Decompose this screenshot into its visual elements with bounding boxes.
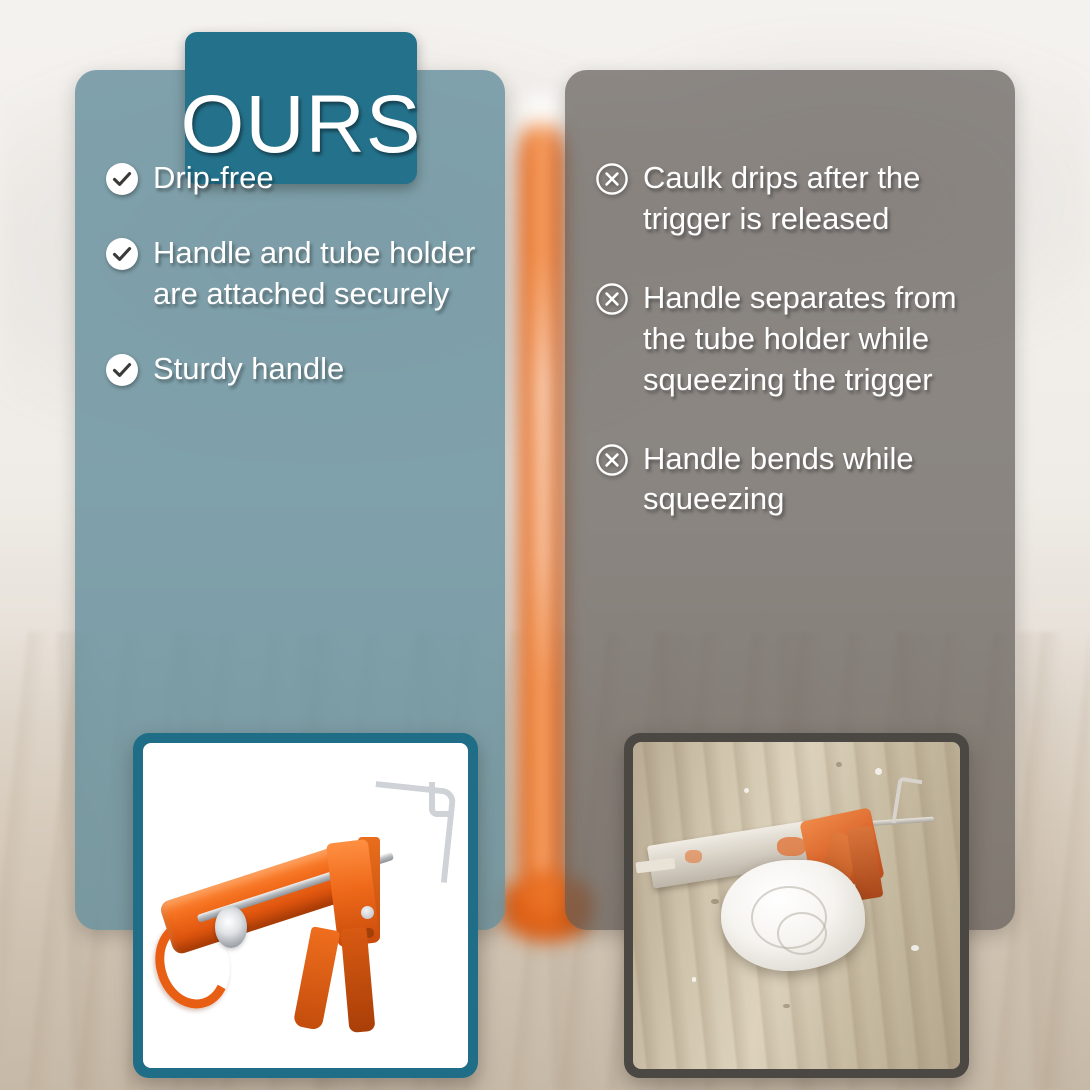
ours-product-photo — [143, 743, 468, 1068]
x-circle-icon — [595, 282, 629, 316]
list-item-label: Sturdy handle — [153, 349, 344, 390]
check-circle-icon — [105, 237, 139, 271]
list-item-label: Handle bends while squeezing — [643, 439, 989, 521]
list-item: Handle separates from the tube holder wh… — [595, 278, 989, 401]
check-circle-icon — [105, 162, 139, 196]
comparison-infographic: OURS Drip-free Han — [0, 0, 1090, 1090]
list-item: Handle and tube holder are attached secu… — [105, 233, 479, 315]
list-item-label: Handle separates from the tube holder wh… — [643, 278, 989, 401]
theirs-product-photo-card — [624, 733, 969, 1078]
ours-bullet-list: Drip-free Handle and tube holder are att… — [75, 158, 505, 424]
dirty-caulking-gun-scene — [633, 742, 960, 1069]
list-item: Caulk drips after the trigger is release… — [595, 158, 989, 240]
list-item: Drip-free — [105, 158, 479, 199]
theirs-product-photo — [633, 742, 960, 1069]
list-item-label: Handle and tube holder are attached secu… — [153, 233, 479, 315]
theirs-bullet-list: Caulk drips after the trigger is release… — [565, 158, 1015, 558]
x-circle-icon — [595, 162, 629, 196]
list-item: Handle bends while squeezing — [595, 439, 989, 521]
check-circle-icon — [105, 353, 139, 387]
list-item: Sturdy handle — [105, 349, 479, 390]
list-item-label: Drip-free — [153, 158, 274, 199]
ours-product-photo-card — [133, 733, 478, 1078]
list-item-label: Caulk drips after the trigger is release… — [643, 158, 989, 240]
x-circle-icon — [595, 443, 629, 477]
ours-header-label: OURS — [181, 50, 422, 166]
orange-caulking-gun-illustration — [143, 743, 468, 1068]
